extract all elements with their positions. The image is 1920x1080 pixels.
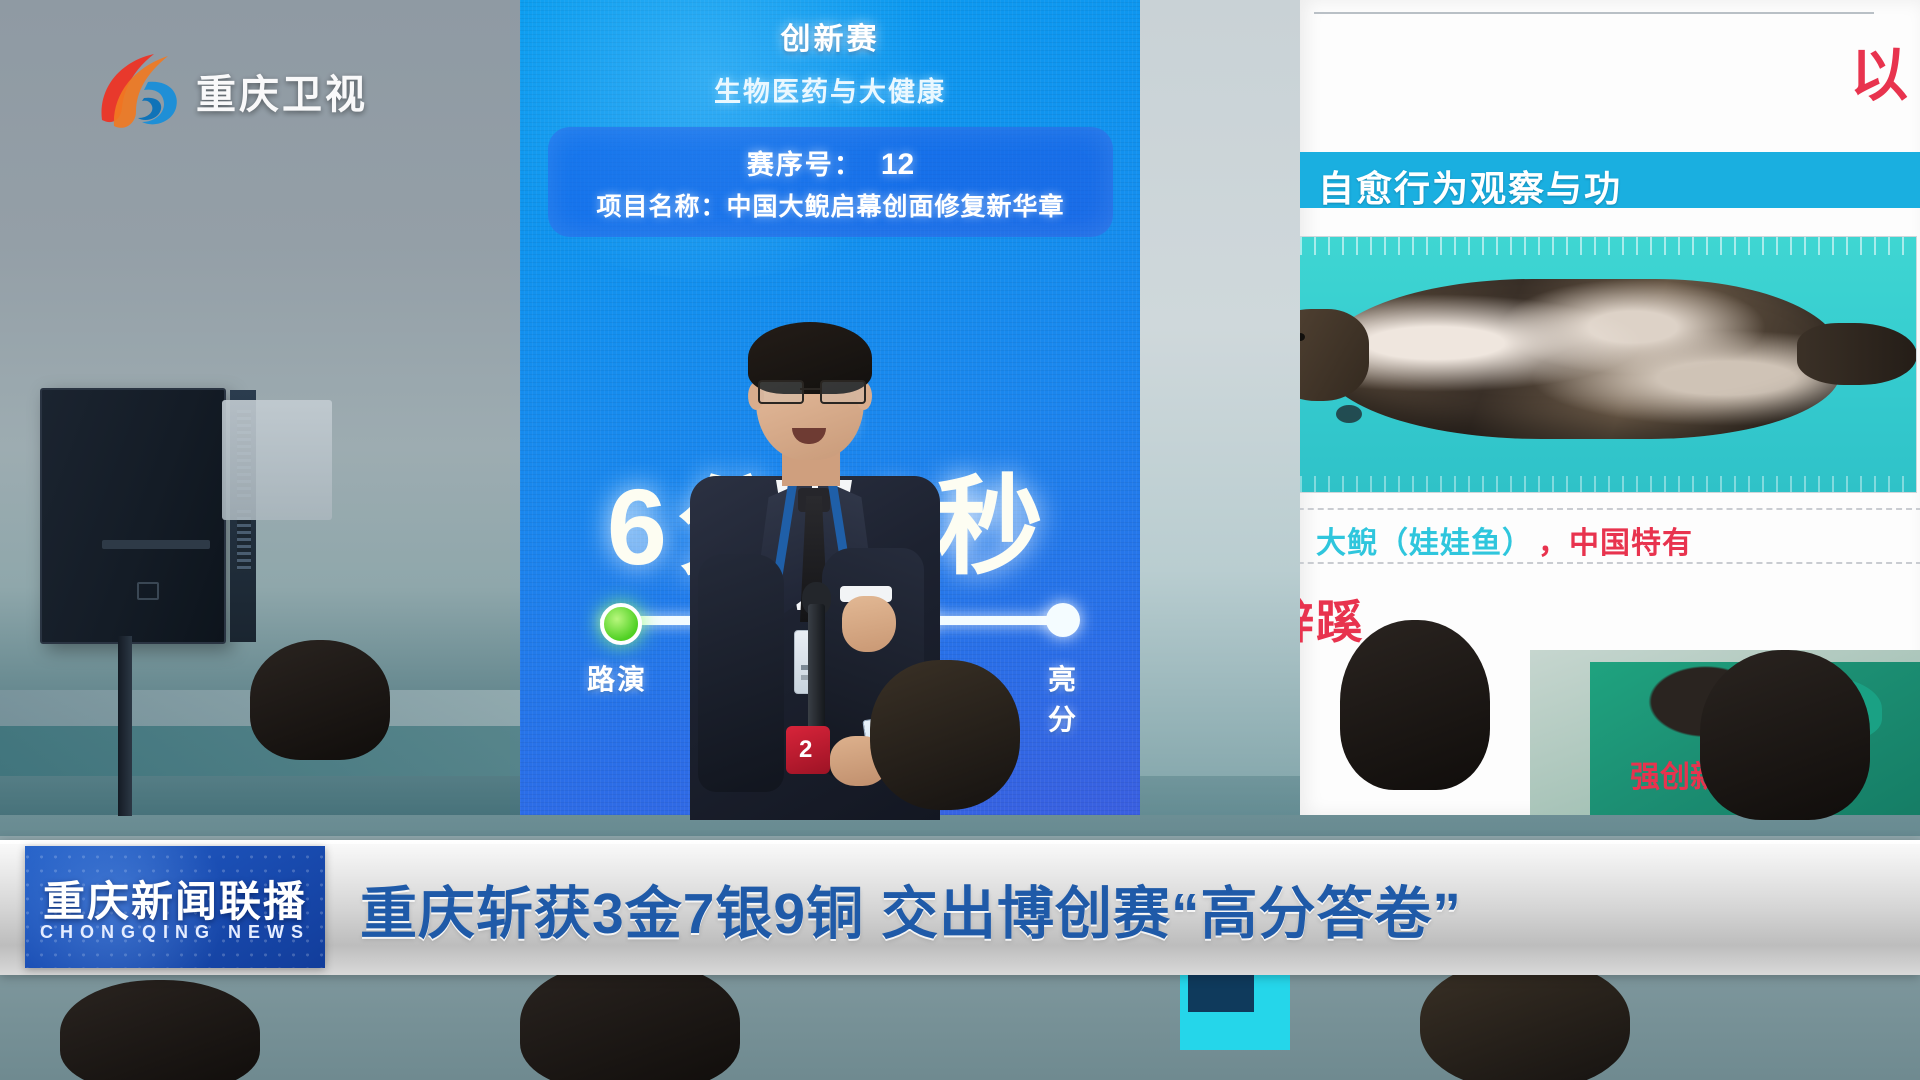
slide-divider xyxy=(1314,12,1874,14)
channel-watermark: 重庆卫视 xyxy=(92,46,392,136)
microphone-flag-number: 2 xyxy=(799,736,812,764)
project-label: 项目名称： xyxy=(596,193,726,221)
sequence-value: 12 xyxy=(881,148,914,181)
led-title: 创新赛 xyxy=(520,14,1140,58)
sequence-row: 赛序号：12 xyxy=(548,143,1113,182)
news-headline: 重庆斩获3金7银9铜 交出博创赛“高分答卷” xyxy=(360,868,1880,950)
presenter-hand-right xyxy=(842,596,896,652)
eyeglasses-icon xyxy=(756,380,866,400)
led-subtitle: 生物医药与大健康 xyxy=(520,70,1140,109)
audience-head-1 xyxy=(250,640,390,760)
slide-highlight-title: 自愈行为观察与功 xyxy=(1318,160,1622,212)
slide-red-top-text: 以 xyxy=(1850,28,1910,112)
speaker-badge-icon xyxy=(137,582,159,600)
lens-left xyxy=(758,380,804,404)
photo-caption-box: 大鲵（娃娃鱼） ，中国特有 xyxy=(1300,508,1920,564)
giant-salamander-body xyxy=(1321,279,1841,439)
step-dot-1 xyxy=(600,603,642,645)
glasses-bridge xyxy=(800,388,820,390)
photo-dark-spot xyxy=(1336,405,1362,423)
photo-ruler-top xyxy=(1300,237,1916,255)
microphone-flag: 2 xyxy=(786,726,830,774)
presenter-arm-left xyxy=(698,554,784,792)
speaker-stand-pole xyxy=(118,636,132,816)
salamander-head xyxy=(1300,309,1369,401)
audience-head-3 xyxy=(1340,620,1490,790)
audience-head-5 xyxy=(520,960,740,1080)
photo-ruler-bottom xyxy=(1300,476,1916,492)
program-name-en: CHONGQING NEWS xyxy=(25,922,325,943)
step-label-1: 路演 xyxy=(587,658,647,698)
channel-watermark-text: 重庆卫视 xyxy=(196,62,368,120)
slide-highlight-band: 自愈行为观察与功 xyxy=(1300,152,1920,208)
lens-right xyxy=(820,380,866,404)
right-wall xyxy=(1140,0,1300,815)
lower-third-shine xyxy=(0,840,1920,844)
salamander-photo xyxy=(1300,236,1917,493)
slide-red-heading: 独辟蹊 xyxy=(1300,586,1364,652)
audience-head-6 xyxy=(1420,960,1630,1080)
step-dot-4 xyxy=(1046,603,1080,637)
audience-head-4 xyxy=(60,980,260,1080)
project-value: 中国大鲵启幕创面修复新华章 xyxy=(727,193,1065,221)
project-row: 项目名称：中国大鲵启幕创面修复新华章 xyxy=(548,187,1113,223)
audience-head-7 xyxy=(1700,650,1870,820)
sequence-label: 赛序号： xyxy=(747,150,863,180)
stage-prop-panel xyxy=(222,400,332,520)
competition-info-card: 赛序号：12 项目名称：中国大鲵启幕创面修复新华章 xyxy=(548,127,1113,237)
broadcast-frame: 创新赛 生物医药与大健康 赛序号：12 项目名称：中国大鲵启幕创面修复新华章 计… xyxy=(0,0,1920,1080)
caption-red-text: ，中国特有 xyxy=(1538,518,1693,562)
audience-head-2 xyxy=(870,660,1020,810)
program-logo-box: 重庆新闻联播 CHONGQING NEWS xyxy=(25,846,325,968)
step-label-4: 亮分 xyxy=(1048,658,1078,738)
program-name-cn: 重庆新闻联播 xyxy=(25,868,325,929)
pa-speaker xyxy=(40,388,226,644)
chongqing-tv-logo-icon xyxy=(92,46,192,132)
speaker-port xyxy=(102,540,210,549)
caption-cyan-text: 大鲵（娃娃鱼） xyxy=(1316,518,1533,562)
salamander-tail xyxy=(1797,323,1917,385)
